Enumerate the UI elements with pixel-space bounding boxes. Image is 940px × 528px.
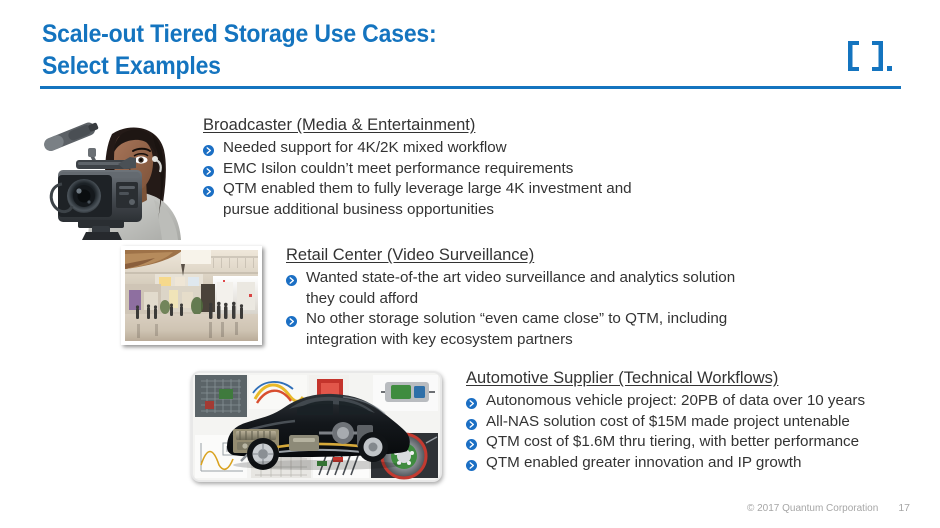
title-divider (40, 86, 901, 89)
list-item: All-NAS solution cost of $15M made proje… (466, 412, 916, 433)
camera-operator-photo (26, 112, 198, 240)
list-item: No other storage solution “even came clo… (286, 309, 826, 350)
list-item: QTM enabled greater innovation and IP gr… (466, 453, 916, 474)
bullet-text: EMC Isilon couldn’t meet performance req… (223, 159, 723, 180)
bullet-text: Needed support for 4K/2K mixed workflow (223, 138, 723, 159)
page-title-line-1: Scale-out Tiered Storage Use Cases: (42, 18, 594, 50)
chevron-circle-bullet-icon (466, 458, 477, 469)
case-heading: Retail Center (Video Surveillance) (286, 245, 826, 265)
slide-footer: © 2017 Quantum Corporation 17 (747, 502, 910, 514)
bullet-list: Wanted state-of-the art video surveillan… (286, 268, 826, 350)
list-item: QTM enabled them to fully leverage large… (203, 179, 723, 220)
bullet-list: Needed support for 4K/2K mixed workflow … (203, 138, 723, 220)
chevron-circle-bullet-icon (203, 143, 214, 154)
case-block-broadcaster: Broadcaster (Media & Entertainment) Need… (203, 115, 723, 221)
bullet-text: All-NAS solution cost of $15M made proje… (486, 412, 916, 433)
chevron-circle-bullet-icon (286, 314, 297, 325)
chevron-circle-bullet-icon (466, 396, 477, 407)
bullet-text: Autonomous vehicle project: 20PB of data… (486, 391, 916, 412)
shopping-mall-interior-photo (121, 246, 262, 345)
chevron-circle-bullet-icon (203, 164, 214, 175)
page-title-line-2: Select Examples (42, 50, 594, 82)
case-heading: Broadcaster (Media & Entertainment) (203, 115, 723, 135)
case-heading: Automotive Supplier (Technical Workflows… (466, 368, 916, 388)
case-block-automotive: Automotive Supplier (Technical Workflows… (466, 368, 916, 474)
chevron-circle-bullet-icon (466, 437, 477, 448)
chevron-circle-bullet-icon (286, 273, 297, 284)
case-block-retail: Retail Center (Video Surveillance) Wante… (286, 245, 826, 351)
bullet-text-continuation: they could afford (306, 289, 826, 310)
page-number: 17 (898, 502, 910, 514)
bullet-text: QTM enabled greater innovation and IP gr… (486, 453, 916, 474)
chevron-circle-bullet-icon (203, 184, 214, 195)
list-item: EMC Isilon couldn’t meet performance req… (203, 159, 723, 180)
quantum-bracket-logo (842, 36, 904, 76)
bullet-text-continuation: pursue additional business opportunities (223, 200, 723, 221)
bullet-text: Wanted state-of-the art video surveillan… (306, 268, 826, 309)
bullet-text: No other storage solution “even came clo… (306, 309, 826, 350)
page-title: Scale-out Tiered Storage Use Cases: Sele… (42, 18, 594, 82)
bullet-text: QTM enabled them to fully leverage large… (223, 179, 723, 220)
bullet-list: Autonomous vehicle project: 20PB of data… (466, 391, 916, 473)
list-item: QTM cost of $1.6M thru tiering, with bet… (466, 432, 916, 453)
slide: Scale-out Tiered Storage Use Cases: Sele… (0, 0, 940, 528)
chevron-circle-bullet-icon (466, 417, 477, 428)
copyright-notice: © 2017 Quantum Corporation (747, 503, 878, 514)
automotive-cad-collage-photo (191, 371, 442, 482)
list-item: Autonomous vehicle project: 20PB of data… (466, 391, 916, 412)
bullet-text-continuation: integration with key ecosystem partners (306, 330, 826, 351)
bullet-text: QTM cost of $1.6M thru tiering, with bet… (486, 432, 916, 453)
list-item: Needed support for 4K/2K mixed workflow (203, 138, 723, 159)
list-item: Wanted state-of-the art video surveillan… (286, 268, 826, 309)
